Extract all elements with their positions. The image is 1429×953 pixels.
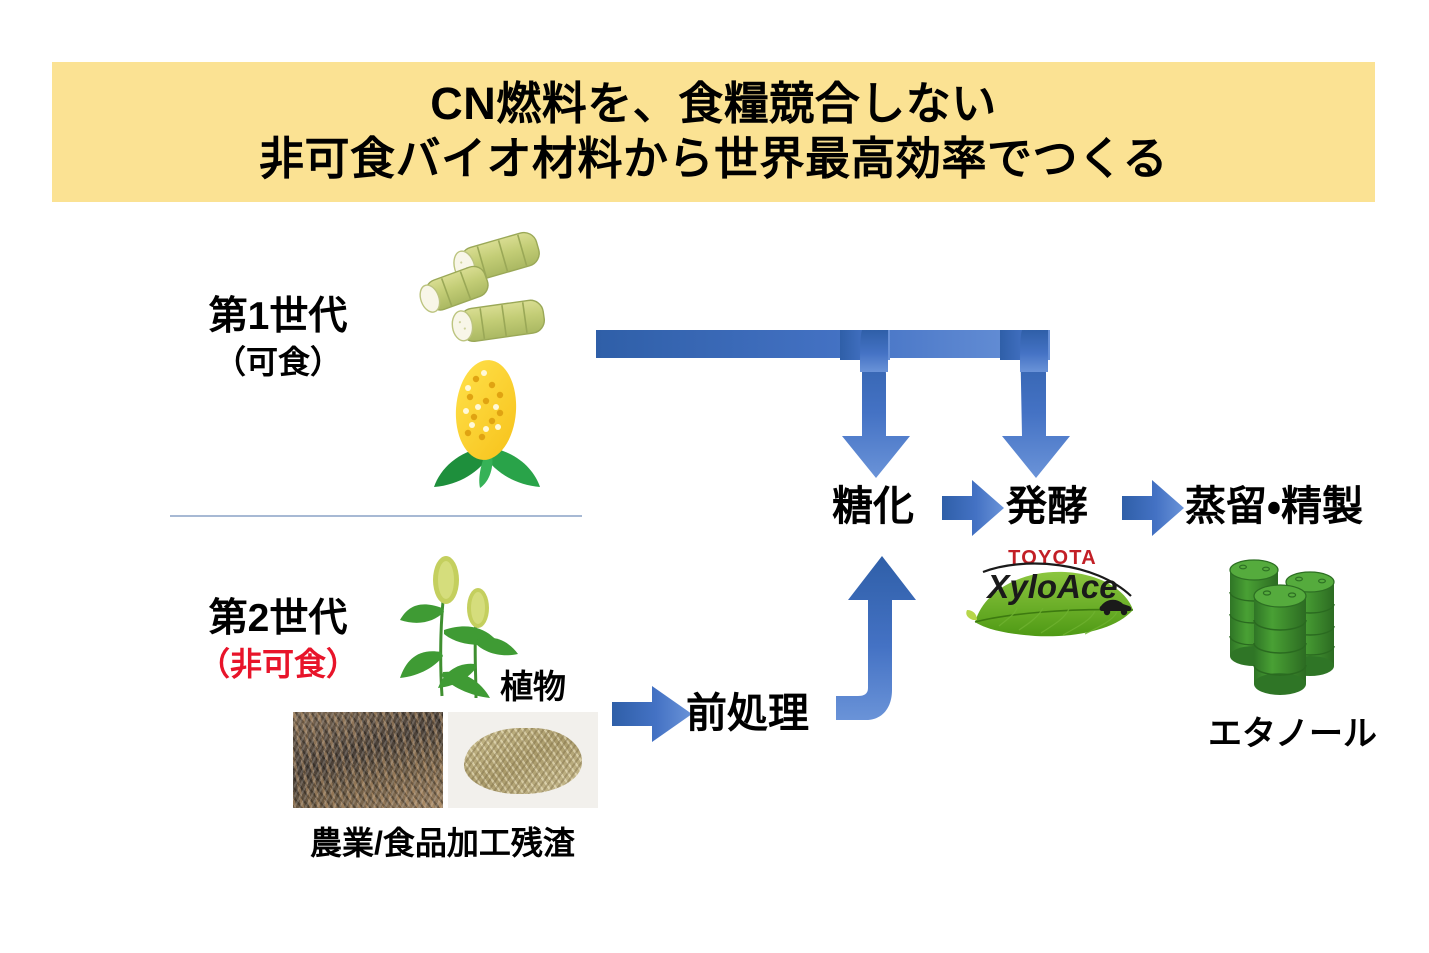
process-step-distillation: 蒸留・精製 [1185, 486, 1363, 527]
process-step-fermentation: 発酵 [1006, 486, 1088, 527]
slide-title-banner: CN燃料を、食糧競合しない 非可食バイオ材料から世界最高効率でつくる [52, 62, 1375, 202]
process-step-pretreatment: 前処理 [686, 693, 809, 734]
straw-residue-photo [293, 712, 443, 808]
generation-2-title: 第2世代 [168, 598, 388, 641]
process-step-saccharification: 糖化 [832, 486, 914, 527]
arrow-gen1-trunk [596, 330, 1070, 480]
corn-icon [424, 355, 549, 490]
generation-2-subtitle: （非可食） [168, 645, 388, 683]
arrow-fermentation-to-distillation [1122, 480, 1184, 536]
ethanol-output-label: エタノール [1208, 706, 1377, 755]
ethanol-barrels-icon [1224, 548, 1344, 696]
generation-2-label-block: 第2世代 （非可食） [168, 598, 388, 683]
residue-feedstock-label: 農業/食品加工残渣 [310, 818, 575, 864]
generation-1-title: 第1世代 [168, 296, 388, 339]
xyloace-product-text: XyloAce [965, 570, 1140, 603]
plant-feedstock-label: 植物 [500, 660, 566, 708]
page-title-line-1: CN燃料を、食糧競合しない [430, 77, 997, 132]
generation-1-label-block: 第1世代 （可食） [168, 296, 388, 381]
bagasse-residue-photo [448, 712, 598, 808]
barrel-front [1254, 585, 1306, 695]
generation-divider [170, 515, 582, 517]
arrow-saccharification-to-fermentation [942, 480, 1004, 536]
toyota-xyloace-logo: TOYOTA XyloAce [965, 548, 1140, 640]
sugarcane-icon [404, 228, 569, 358]
generation-1-subtitle: （可食） [168, 343, 388, 381]
arrow-to-pretreatment [612, 686, 692, 742]
page-title-line-2: 非可食バイオ材料から世界最高効率でつくる [259, 132, 1168, 187]
arrow-pretreatment-to-saccharification [836, 556, 916, 720]
